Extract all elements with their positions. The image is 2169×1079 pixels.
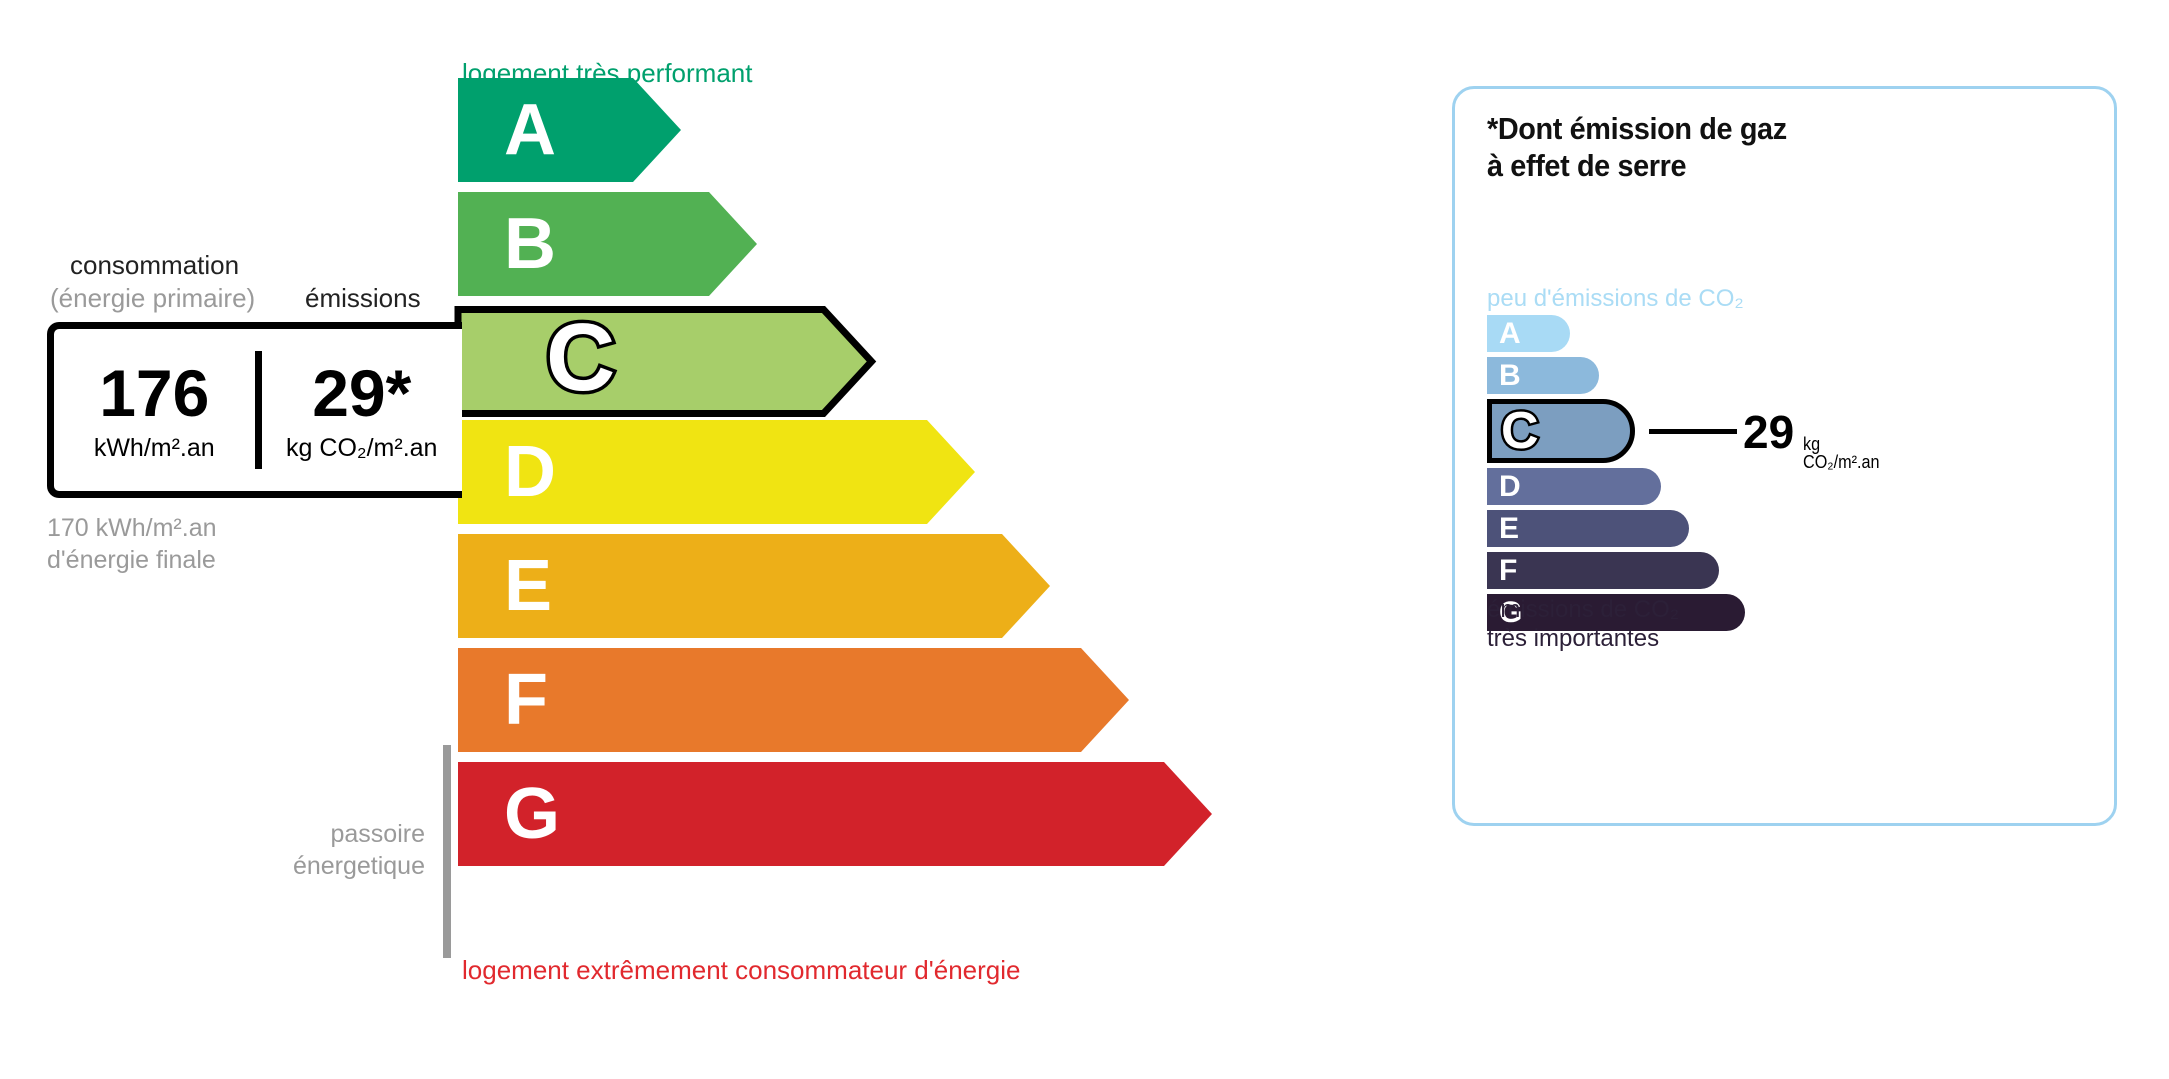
ghg-bottom-line1: émissions de CO₂ [1487,595,1679,624]
arrow-letter-e: E [504,550,552,622]
arrow-letter-a: A [504,94,556,166]
value-box: 176 kWh/m².an 29* kg CO₂/m².an [47,322,462,498]
ghg-bottom-caption: émissions de CO₂ très importantes [1487,595,1679,654]
passoire-line1: passoire [280,818,425,850]
energy-arrow-d: D [462,420,975,524]
ghg-bar-letter-f: F [1499,556,1517,586]
energy-arrow-f: F [462,648,1129,752]
arrow-letter-g: G [504,778,560,850]
primary-energy-value: 176 [99,360,209,426]
arrow-shape-c [462,306,875,417]
label-consumption: consommation [70,250,239,281]
primary-energy-unit: kWh/m².an [94,436,215,461]
energy-arrow-a: A [462,78,681,182]
arrow-shape-f [462,648,1129,752]
value-box-divider [255,351,262,469]
energy-arrow-g: G [462,762,1212,866]
ghg-panel-title: *Dont émission de gaz à effet de serre [1487,111,1787,184]
ghg-bar-letter-d: D [1499,472,1521,502]
emission-cell: 29* kg CO₂/m².an [262,329,463,491]
arrow-letter-d: D [504,436,556,508]
energy-performance-scale: logement très performant ABCDEFG consomm… [0,0,1380,1079]
final-energy-line2: d'énergie finale [47,544,217,576]
final-energy-note: 170 kWh/m².an d'énergie finale [47,512,217,576]
final-energy-line1: 170 kWh/m².an [47,512,217,544]
ghg-bar-letter-a: A [1499,319,1521,349]
ghg-bottom-line2: très importantes [1487,624,1679,653]
energy-arrow-e: E [462,534,1050,638]
ghg-title-line2: à effet de serre [1487,148,1787,185]
ghg-bar-fill-f [1487,552,1719,589]
ghg-value-unit: kg CO₂/m².an [1803,435,1880,471]
ghg-top-caption: peu d'émissions de CO₂ [1487,285,1744,313]
arrow-letter-b: B [504,208,556,280]
ghg-emission-panel: *Dont émission de gaz à effet de serre p… [1452,86,2117,826]
arrow-letter-f: F [504,664,548,736]
ghg-leader-line [1649,429,1737,434]
passoire-label: passoire énergetique [280,818,425,882]
emission-value: 29* [312,360,411,426]
scale-bottom-caption: logement extrêmement consommateur d'éner… [462,955,1020,986]
passoire-bracket [443,745,451,958]
arrow-shape-a [462,78,681,182]
energy-arrow-c: C [462,306,868,410]
ghg-title-line1: *Dont émission de gaz [1487,111,1787,148]
energy-arrow-b: B [462,192,757,296]
ghg-bar-letter-c: C [1501,405,1539,457]
ghg-bar-letter-b: B [1499,361,1521,391]
primary-energy-cell: 176 kWh/m².an [54,329,255,491]
label-consumption-sub: (énergie primaire) [50,283,255,314]
ghg-value: 29 [1743,409,1794,455]
arrow-shape-g [462,762,1212,866]
ghg-bar-letter-e: E [1499,514,1519,544]
passoire-line2: énergetique [280,850,425,882]
label-emissions: émissions [305,283,421,314]
arrow-letter-c: C [546,310,615,406]
emission-unit: kg CO₂/m².an [286,436,437,461]
